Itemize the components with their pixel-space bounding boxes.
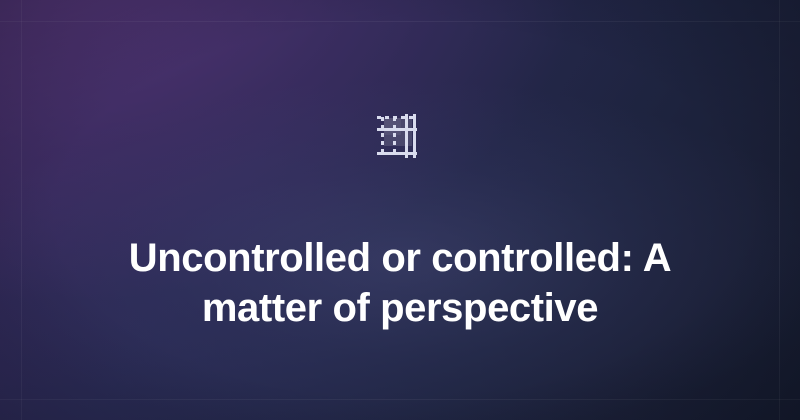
page-title: Uncontrolled or controlled: A matter of … [70, 234, 730, 333]
crop-artboard-icon [375, 112, 425, 160]
banner-card: Uncontrolled or controlled: A matter of … [0, 0, 800, 420]
banner-content: Uncontrolled or controlled: A matter of … [0, 0, 800, 420]
